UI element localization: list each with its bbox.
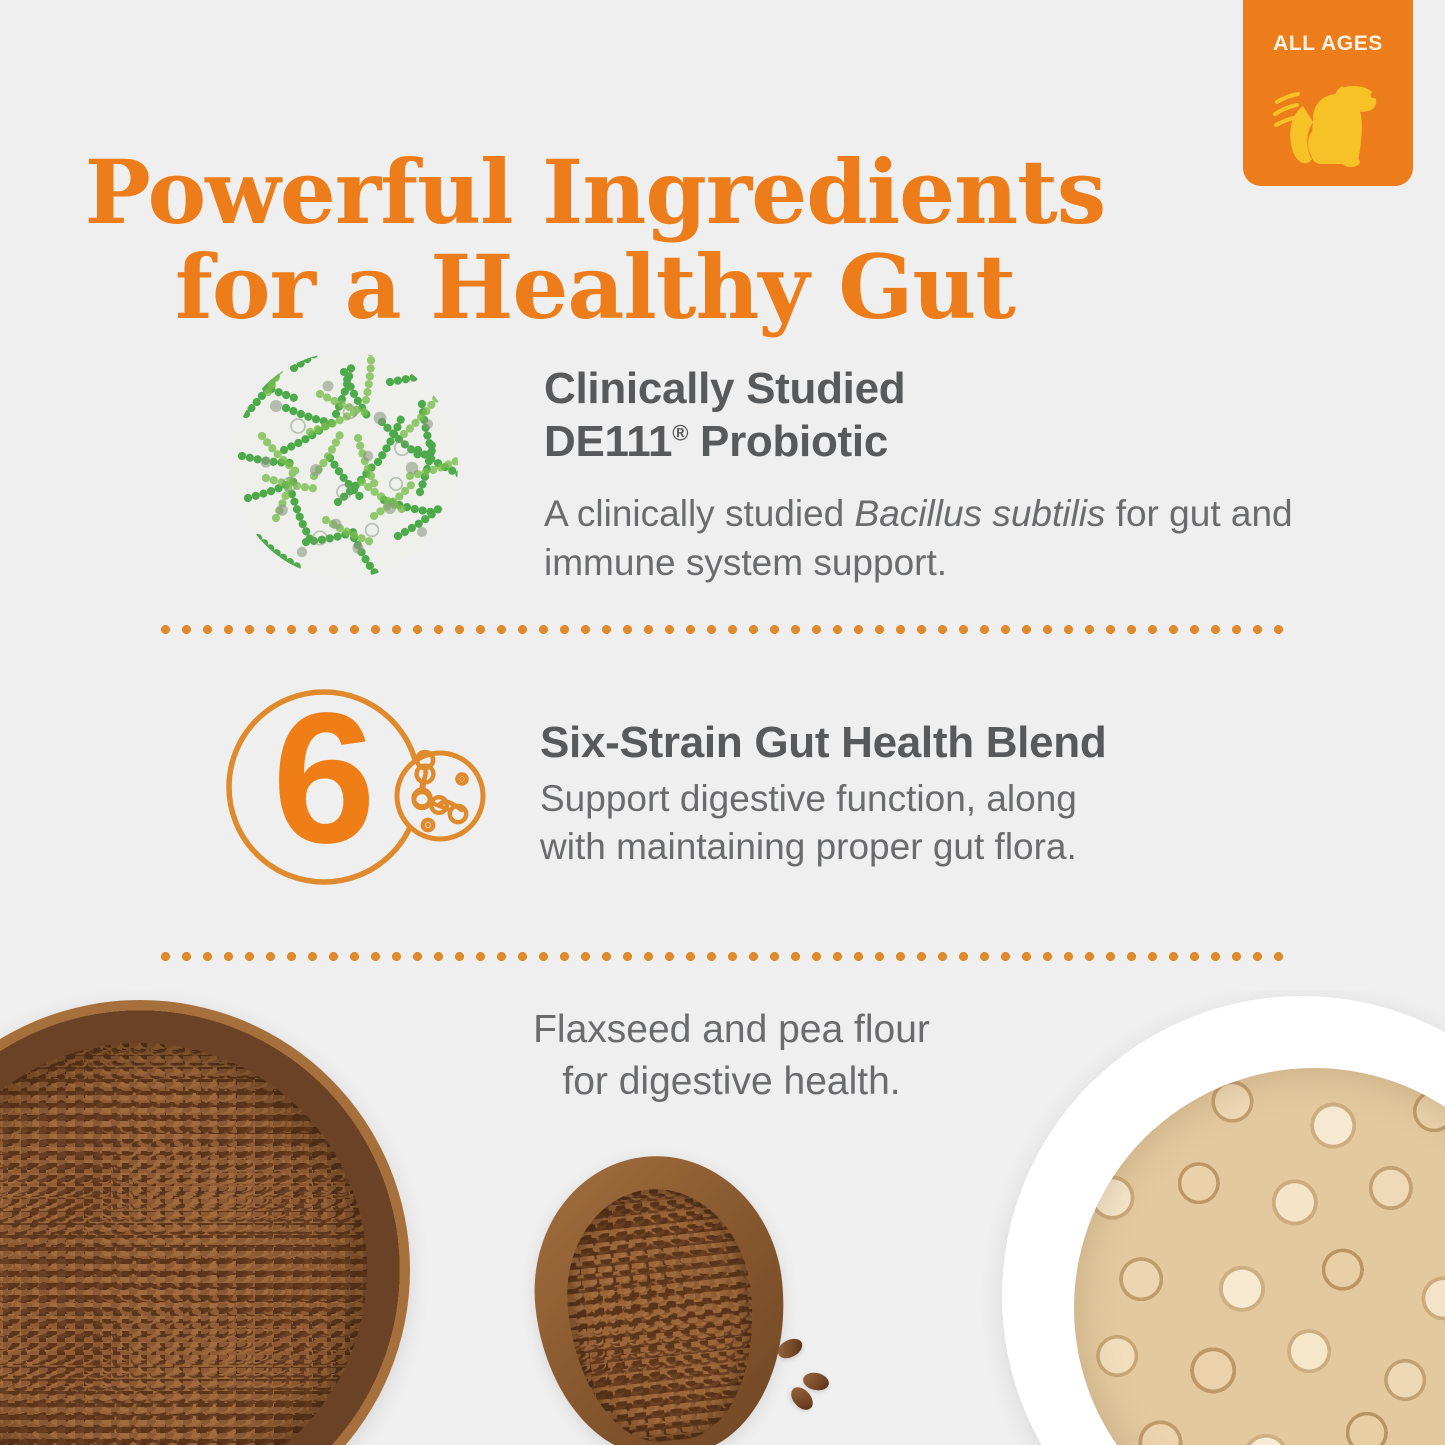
- loose-flaxseed: [775, 1335, 806, 1362]
- feature-heading-line-2: DE111® Probiotic: [544, 415, 1302, 468]
- infographic-page: ALL AGES Powerful Ingredients fo: [0, 0, 1445, 1445]
- feature-heading: Six-Strain Gut Health Blend: [540, 716, 1299, 769]
- spoon-bowl: [521, 1144, 799, 1445]
- registered-mark: ®: [672, 421, 688, 446]
- feature-six-strain-blend: 6: [224, 682, 1299, 894]
- loose-flaxseed: [802, 1370, 831, 1392]
- product-name: DE111: [544, 417, 672, 466]
- chickpeas: [1074, 1068, 1445, 1445]
- flaxseeds: [557, 1180, 766, 1445]
- sitting-dog-icon: [1271, 62, 1387, 174]
- feature-body: A clinically studied Bacillus subtilis f…: [544, 490, 1302, 586]
- product-suffix: Probiotic: [688, 417, 888, 466]
- page-title-line-1: Powerful Ingredients: [0, 145, 1190, 240]
- feature-clinically-studied: Clinically Studied DE111® Probiotic A cl…: [232, 352, 1302, 587]
- feature-body-line-2: with maintaining proper gut flora.: [540, 823, 1299, 871]
- feature-text-block: Six-Strain Gut Health Blend Support dige…: [540, 682, 1299, 871]
- bottom-caption-line-1: Flaxseed and pea flour: [383, 1004, 1080, 1056]
- bottom-caption-line-2: for digestive health.: [383, 1056, 1080, 1108]
- flaxseeds: [0, 1043, 367, 1445]
- body-text-pre: A clinically studied: [544, 493, 855, 534]
- six-strain-blend-icon: 6: [224, 682, 486, 894]
- loose-flaxseed: [787, 1383, 817, 1414]
- feature-body-line-1: Support digestive function, along: [540, 775, 1299, 823]
- feature-text-block: Clinically Studied DE111® Probiotic A cl…: [544, 352, 1302, 587]
- bacteria-microscopy-icon: [232, 352, 458, 578]
- dotted-divider: [155, 952, 1291, 961]
- svg-text:6: 6: [272, 682, 375, 882]
- flaxseed-wooden-spoon-photo: [521, 1144, 799, 1445]
- dotted-divider: [155, 625, 1291, 634]
- bottom-caption: Flaxseed and pea flour for digestive hea…: [383, 1004, 1080, 1109]
- feature-heading-line-1: Clinically Studied: [544, 362, 1302, 415]
- species-name: Bacillus subtilis: [855, 493, 1106, 534]
- page-title-line-2: for a Healthy Gut: [0, 240, 1190, 335]
- all-ages-badge: ALL AGES: [1243, 0, 1413, 186]
- feature-body: Support digestive function, along with m…: [540, 775, 1299, 871]
- all-ages-label: ALL AGES: [1243, 32, 1413, 56]
- feature-heading: Clinically Studied DE111® Probiotic: [544, 362, 1302, 468]
- page-title: Powerful Ingredients for a Healthy Gut: [0, 145, 1190, 335]
- flaxseed-wooden-bowl-photo: [0, 1000, 410, 1445]
